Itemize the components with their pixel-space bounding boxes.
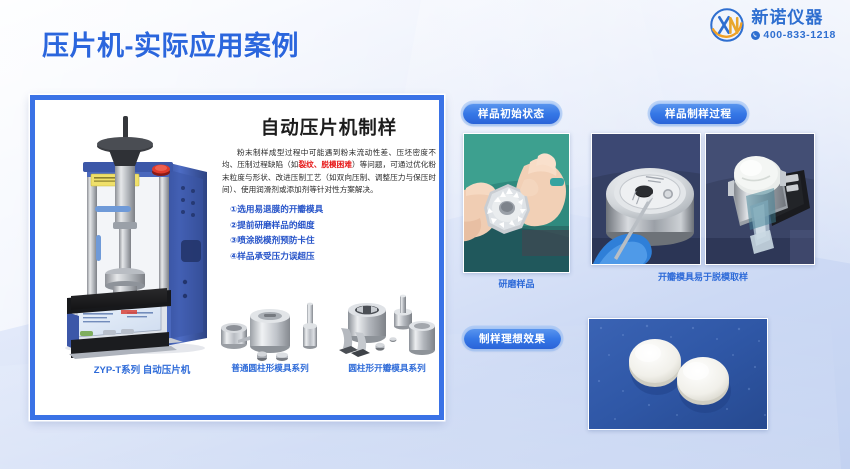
badge-ideal-result: 制样理想效果 — [464, 328, 561, 349]
badge-sample-process: 样品制样过程 — [650, 103, 747, 124]
para-highlight: 裂纹、脱模困难 — [298, 160, 352, 169]
main-content-panel: ZYP-T系列 自动压片机 自动压片机制样 粉末制样成型过程中可能遇到粉末流动性… — [30, 95, 444, 420]
xn-circle-logo-icon — [710, 8, 744, 42]
cylindrical-mold-set-photo — [218, 292, 330, 362]
grinding-sample-photo — [463, 133, 570, 273]
phone-icon — [751, 31, 760, 40]
brand-phone-number: 400-833-1218 — [763, 30, 836, 41]
mold-label-1: 普通圆柱形模具系列 — [214, 362, 326, 374]
photo-caption-grinding: 研磨样品 — [463, 277, 570, 290]
machine-caption: ZYP-T系列 自动压片机 — [57, 362, 227, 376]
bullet-item-1: ①选用易退膜的开瓣模具 — [230, 202, 440, 218]
mold-series-row: 普通圆柱形模具系列 — [218, 292, 446, 384]
content-bullet-list: ①选用易退膜的开瓣模具 ②提前研磨样品的细度 ③喷涂脱模剂预防卡住 ④样品承受压… — [218, 202, 440, 265]
brand-phone: 400-833-1218 — [751, 30, 836, 41]
bullet-item-4: ④样品承受压力误超压 — [230, 249, 440, 265]
brand-logo: 新诺仪器 400-833-1218 — [710, 8, 836, 42]
mold-top-view-photo — [591, 133, 701, 265]
content-paragraph: 粉末制样成型过程中可能遇到粉末流动性差、压坯密度不均、压制过程缺陷（如裂纹、脱模… — [222, 147, 436, 196]
demolded-sample-photo — [705, 133, 815, 265]
tablet-press-machine-photo — [47, 110, 222, 360]
bullet-item-2: ②提前研磨样品的细度 — [230, 218, 440, 234]
bullet-item-3: ③喷涂脱模剂预防卡住 — [230, 233, 440, 249]
brand-name: 新诺仪器 — [751, 9, 836, 26]
page-title: 压片机-实际应用案例 — [42, 24, 299, 63]
content-title: 自动压片机制样 — [218, 114, 440, 140]
slide-root: 压片机-实际应用案例 新诺仪器 400-833-1218 — [0, 0, 850, 469]
photo-caption-demolding: 开瓣模具易于脱模取样 — [591, 270, 815, 283]
split-cylindrical-mold-set-photo — [333, 292, 445, 362]
content-column: 自动压片机制样 粉末制样成型过程中可能遇到粉末流动性差、压坯密度不均、压制过程缺… — [218, 114, 440, 265]
badge-sample-initial-state: 样品初始状态 — [463, 103, 560, 124]
mold-label-2: 圆柱形开瓣模具系列 — [331, 362, 443, 374]
finished-tablets-photo — [588, 318, 768, 430]
